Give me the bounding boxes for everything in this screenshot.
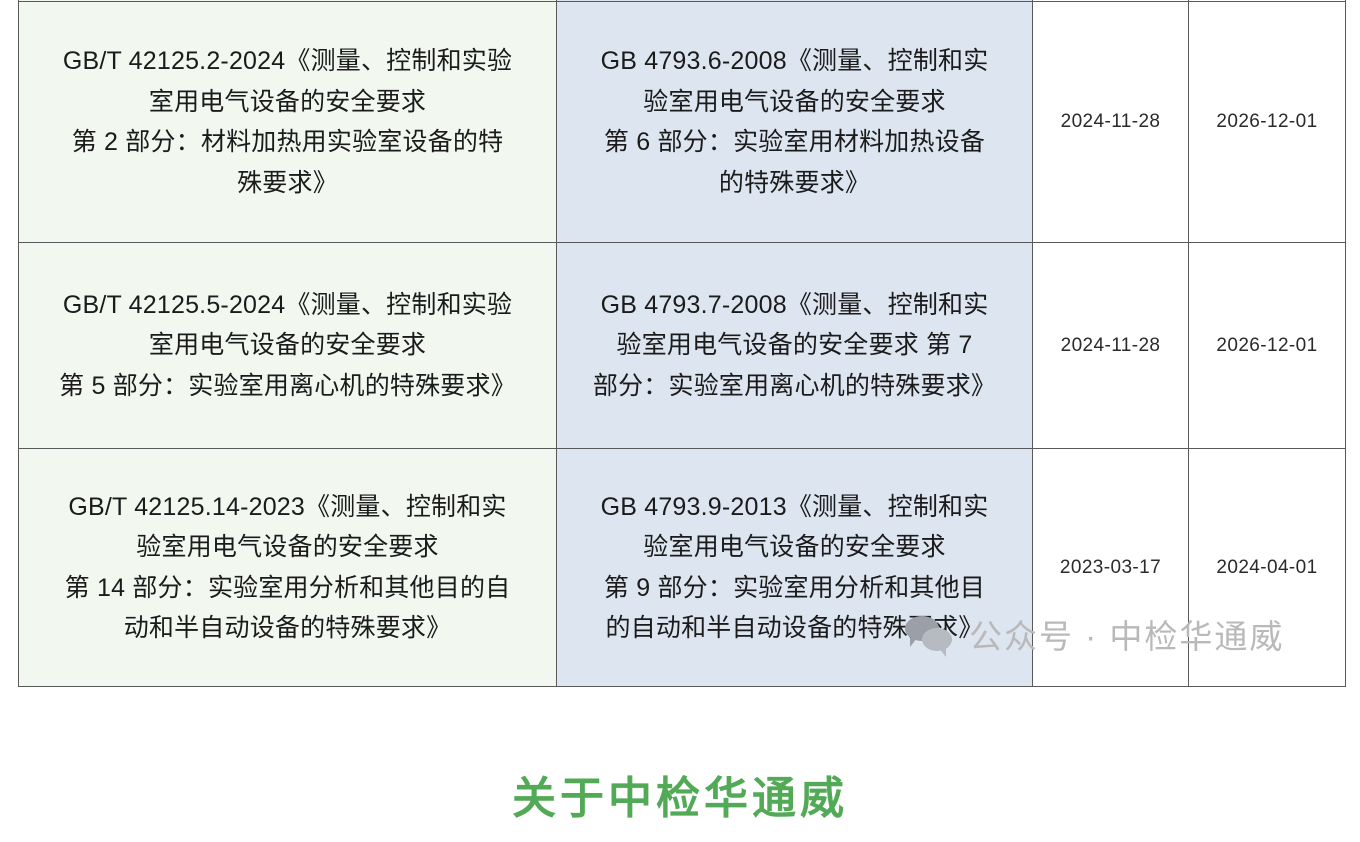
new-standard-text: GB/T 42125.2-2024《测量、控制和实验 室用电气设备的安全要求 第… [19, 27, 556, 217]
section-heading: 关于中检华通威 [0, 762, 1360, 826]
standards-comparison-table: GB/T 42125.2-2024《测量、控制和实验 室用电气设备的安全要求 第… [18, 0, 1346, 687]
new-standard-text: GB/T 42125.5-2024《测量、控制和实验 室用电气设备的安全要求 第… [19, 271, 556, 421]
implemented-date-value: 2026-12-01 [1189, 325, 1345, 367]
cell-implemented-date: 2024-04-01 [1189, 449, 1346, 687]
implemented-date-value: 2024-04-01 [1189, 547, 1345, 589]
cell-old-standard: GB 4793.9-2013《测量、控制和实 验室用电气设备的安全要求 第 9 … [557, 449, 1033, 687]
cell-implemented-date: 2026-12-01 [1189, 243, 1346, 449]
table-row: GB/T 42125.2-2024《测量、控制和实验 室用电气设备的安全要求 第… [19, 2, 1346, 243]
cell-new-standard: GB/T 42125.14-2023《测量、控制和实 验室用电气设备的安全要求 … [19, 449, 557, 687]
cell-new-standard: GB/T 42125.5-2024《测量、控制和实验 室用电气设备的安全要求 第… [19, 243, 557, 449]
table-body: GB/T 42125.2-2024《测量、控制和实验 室用电气设备的安全要求 第… [19, 0, 1346, 687]
cell-old-standard: GB 4793.7-2008《测量、控制和实 验室用电气设备的安全要求 第 7 … [557, 243, 1033, 449]
implemented-date-value: 2026-12-01 [1189, 101, 1345, 143]
cell-old-standard: GB 4793.6-2008《测量、控制和实 验室用电气设备的安全要求 第 6 … [557, 2, 1033, 243]
table-row: GB/T 42125.5-2024《测量、控制和实验 室用电气设备的安全要求 第… [19, 243, 1346, 449]
table-row: GB/T 42125.14-2023《测量、控制和实 验室用电气设备的安全要求 … [19, 449, 1346, 687]
cell-new-standard: GB/T 42125.2-2024《测量、控制和实验 室用电气设备的安全要求 第… [19, 2, 557, 243]
old-standard-text: GB 4793.9-2013《测量、控制和实 验室用电气设备的安全要求 第 9 … [557, 473, 1032, 663]
cell-published-date: 2023-03-17 [1033, 449, 1189, 687]
old-standard-text: GB 4793.7-2008《测量、控制和实 验室用电气设备的安全要求 第 7 … [557, 271, 1032, 421]
cell-published-date: 2024-11-28 [1033, 2, 1189, 243]
published-date-value: 2023-03-17 [1033, 547, 1188, 589]
new-standard-text: GB/T 42125.14-2023《测量、控制和实 验室用电气设备的安全要求 … [19, 473, 556, 663]
published-date-value: 2024-11-28 [1033, 325, 1188, 367]
cell-implemented-date: 2026-12-01 [1189, 2, 1346, 243]
standards-comparison-table-wrapper: GB/T 42125.2-2024《测量、控制和实验 室用电气设备的安全要求 第… [18, 0, 1345, 687]
published-date-value: 2024-11-28 [1033, 101, 1188, 143]
cell-published-date: 2024-11-28 [1033, 243, 1189, 449]
old-standard-text: GB 4793.6-2008《测量、控制和实 验室用电气设备的安全要求 第 6 … [557, 27, 1032, 217]
